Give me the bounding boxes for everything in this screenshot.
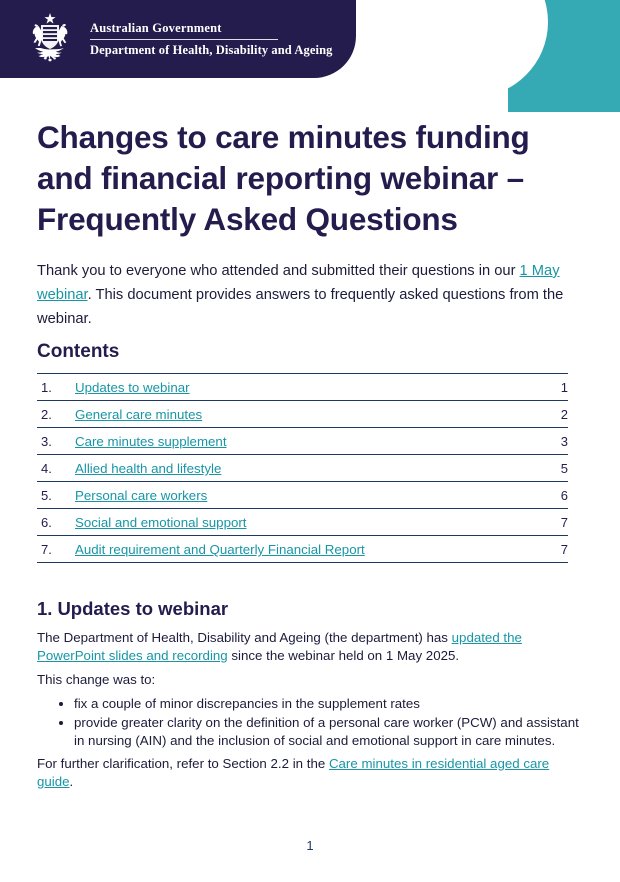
toc-item-page: 7 [542, 536, 568, 563]
toc-item-number: 6. [37, 509, 75, 536]
toc-link-care-minutes-supplement[interactable]: Care minutes supplement [75, 434, 227, 449]
page-number: 1 [0, 838, 620, 853]
table-row[interactable]: 3. Care minutes supplement 3 [37, 428, 568, 455]
toc-item-page: 5 [542, 455, 568, 482]
section-1-paragraph-3: For further clarification, refer to Sect… [37, 755, 574, 791]
list-item: fix a couple of minor discrepancies in t… [74, 695, 590, 713]
table-row[interactable]: 7. Audit requirement and Quarterly Finan… [37, 536, 568, 563]
toc-item-number: 3. [37, 428, 75, 455]
toc-item-page: 2 [542, 401, 568, 428]
toc-link-social-and-emotional-support[interactable]: Social and emotional support [75, 515, 247, 530]
section-1-number: 1. [37, 598, 52, 619]
section-1-title: Updates to webinar [57, 598, 228, 619]
toc-item-number: 2. [37, 401, 75, 428]
toc-item-number: 7. [37, 536, 75, 563]
table-row[interactable]: 4. Allied health and lifestyle 5 [37, 455, 568, 482]
toc-item-label[interactable]: Allied health and lifestyle [75, 455, 542, 482]
toc-item-page: 6 [542, 482, 568, 509]
toc-item-number: 1. [37, 374, 75, 401]
toc-item-page: 7 [542, 509, 568, 536]
table-row[interactable]: 5. Personal care workers 6 [37, 482, 568, 509]
toc-item-label[interactable]: Updates to webinar [75, 374, 542, 401]
paragraph-3-text-before: For further clarification, refer to Sect… [37, 756, 329, 771]
toc-link-personal-care-workers[interactable]: Personal care workers [75, 488, 207, 503]
toc-link-audit-requirement[interactable]: Audit requirement and Quarterly Financia… [75, 542, 365, 557]
toc-link-allied-health-and-lifestyle[interactable]: Allied health and lifestyle [75, 461, 221, 476]
toc-item-label[interactable]: Care minutes supplement [75, 428, 542, 455]
list-item: provide greater clarity on the definitio… [74, 714, 590, 750]
page-title: Changes to care minutes funding and fina… [37, 117, 567, 240]
paragraph-1-text-after: since the webinar held on 1 May 2025. [228, 648, 459, 663]
intro-paragraph: Thank you to everyone who attended and s… [37, 259, 580, 331]
toc-item-label[interactable]: Social and emotional support [75, 509, 542, 536]
paragraph-3-text-after: . [70, 774, 74, 789]
contents-heading: Contents [37, 341, 119, 363]
toc-item-number: 4. [37, 455, 75, 482]
table-row[interactable]: 1. Updates to webinar 1 [37, 374, 568, 401]
document-page: Changes to care minutes funding and fina… [0, 0, 620, 882]
toc-item-label[interactable]: Personal care workers [75, 482, 542, 509]
intro-text-after: . This document provides answers to freq… [37, 287, 563, 327]
intro-text-before: Thank you to everyone who attended and s… [37, 263, 520, 279]
toc-item-label[interactable]: Audit requirement and Quarterly Financia… [75, 536, 542, 563]
toc-item-number: 5. [37, 482, 75, 509]
table-of-contents: 1. Updates to webinar 1 2. General care … [37, 373, 568, 563]
toc-item-page: 3 [542, 428, 568, 455]
table-row[interactable]: 6. Social and emotional support 7 [37, 509, 568, 536]
paragraph-1-text-before: The Department of Health, Disability and… [37, 630, 452, 645]
section-1-paragraph-2: This change was to: [37, 671, 574, 689]
toc-link-general-care-minutes[interactable]: General care minutes [75, 407, 202, 422]
toc-link-updates-to-webinar[interactable]: Updates to webinar [75, 380, 190, 395]
toc-item-page: 1 [542, 374, 568, 401]
section-1-heading: 1.Updates to webinar [37, 598, 228, 620]
table-row[interactable]: 2. General care minutes 2 [37, 401, 568, 428]
section-1-bullet-list: fix a couple of minor discrepancies in t… [58, 695, 590, 751]
toc-item-label[interactable]: General care minutes [75, 401, 542, 428]
section-1-paragraph-1: The Department of Health, Disability and… [37, 629, 574, 665]
